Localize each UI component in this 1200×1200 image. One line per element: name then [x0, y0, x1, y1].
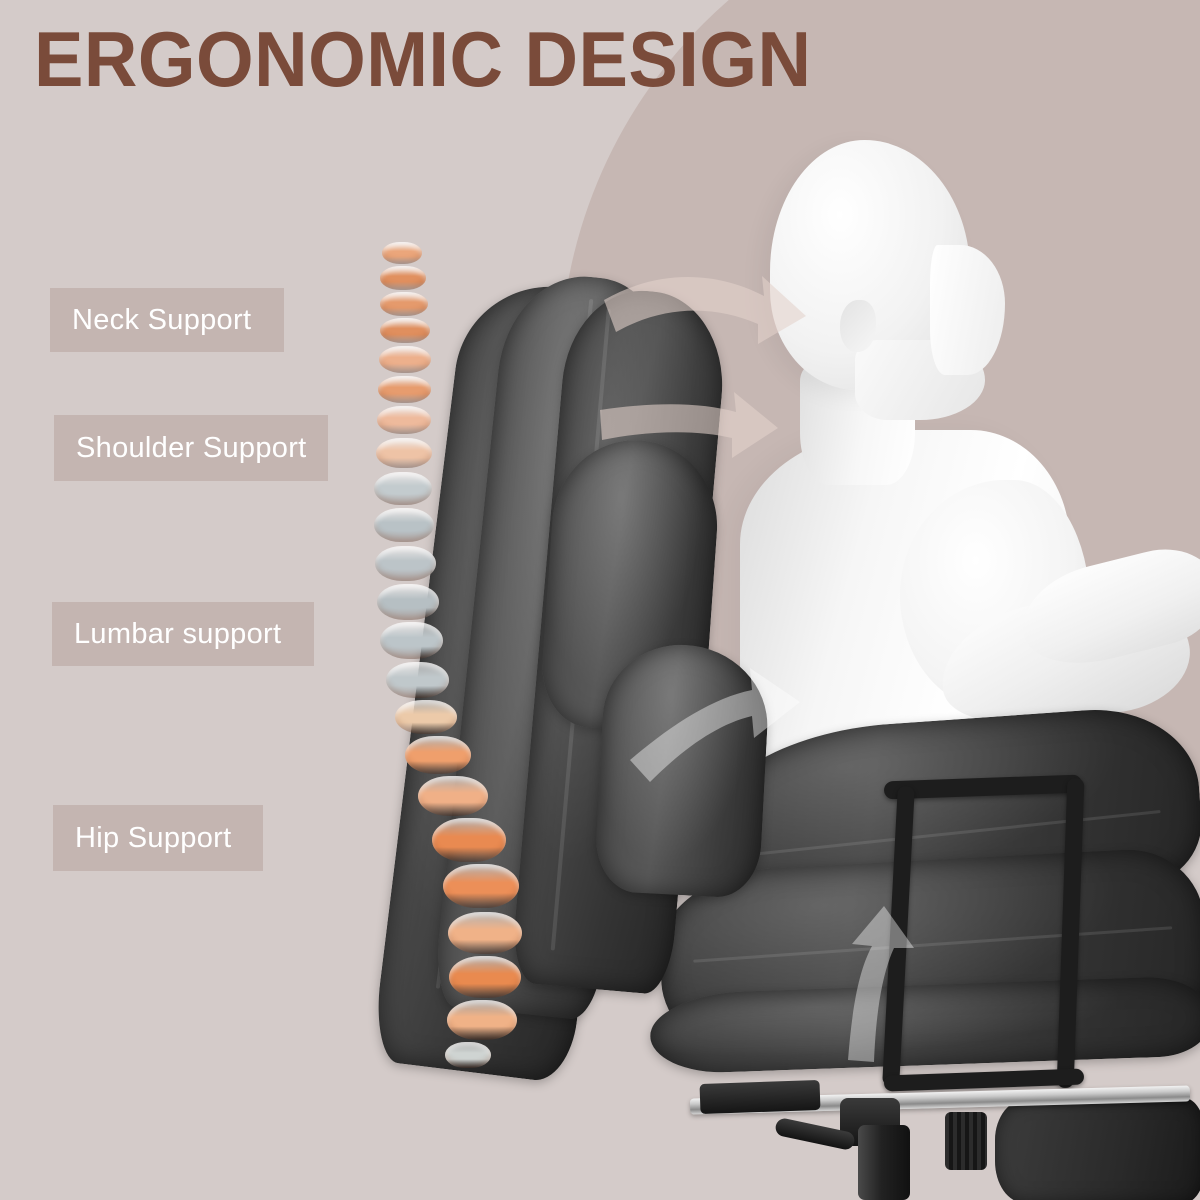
- vertebra-3: [380, 292, 428, 316]
- seat-mechanism-housing: [840, 1098, 900, 1146]
- vertebra-19: [443, 864, 519, 908]
- vertebra-21: [449, 956, 521, 998]
- seat-mechanism-plate: [700, 1080, 821, 1114]
- vertebra-7: [377, 406, 431, 434]
- label-chip-shoulder-support[interactable]: Shoulder Support: [54, 415, 328, 481]
- vertebra-11: [375, 546, 436, 581]
- vertebra-5: [379, 346, 431, 373]
- hip-arrow-icon: [848, 906, 914, 1062]
- ergonomic-design-infographic: ERGONOMIC DESIGN Neck Support Shoulder S…: [0, 0, 1200, 1200]
- vertebra-18: [432, 818, 506, 862]
- backrest-seam-outer: [436, 314, 523, 989]
- vertebra-12: [377, 584, 439, 620]
- vertebra-16: [405, 736, 471, 774]
- vertebra-14: [386, 662, 449, 698]
- vertebra-2: [380, 266, 426, 290]
- vertebra-6: [378, 376, 431, 403]
- vertebra-20: [448, 912, 522, 954]
- seat-base-seam: [693, 926, 1172, 962]
- label-chip-lumbar-support[interactable]: Lumbar support: [52, 602, 314, 666]
- background-circle: [560, 0, 1200, 860]
- vertebra-8: [376, 438, 432, 468]
- vertebra-4: [380, 318, 430, 343]
- vertebra-17: [418, 776, 488, 816]
- label-chip-neck-support[interactable]: Neck Support: [50, 288, 284, 352]
- tilt-lever[interactable]: [774, 1117, 856, 1151]
- page-title: ERGONOMIC DESIGN: [34, 18, 811, 100]
- chair-seat-base: [656, 846, 1200, 1054]
- chair-seat-edge: [649, 975, 1200, 1074]
- vertebra-23: [445, 1042, 491, 1068]
- vertebra-1: [382, 242, 422, 264]
- tension-knob[interactable]: [945, 1112, 987, 1170]
- chrome-mechanism-bar: [690, 1085, 1190, 1114]
- vertebra-15: [395, 700, 457, 734]
- vertebra-9: [374, 472, 432, 505]
- label-chip-hip-support[interactable]: Hip Support: [53, 805, 263, 871]
- chair-footrest: [995, 1098, 1200, 1200]
- armrest-bottom-bar: [884, 1069, 1084, 1092]
- mannequin-hip: [760, 830, 1020, 1020]
- vertebra-22: [447, 1000, 517, 1040]
- gas-cylinder: [858, 1125, 910, 1200]
- spine-illustration: [350, 230, 550, 970]
- vertebra-13: [380, 622, 443, 659]
- vertebra-10: [374, 508, 434, 542]
